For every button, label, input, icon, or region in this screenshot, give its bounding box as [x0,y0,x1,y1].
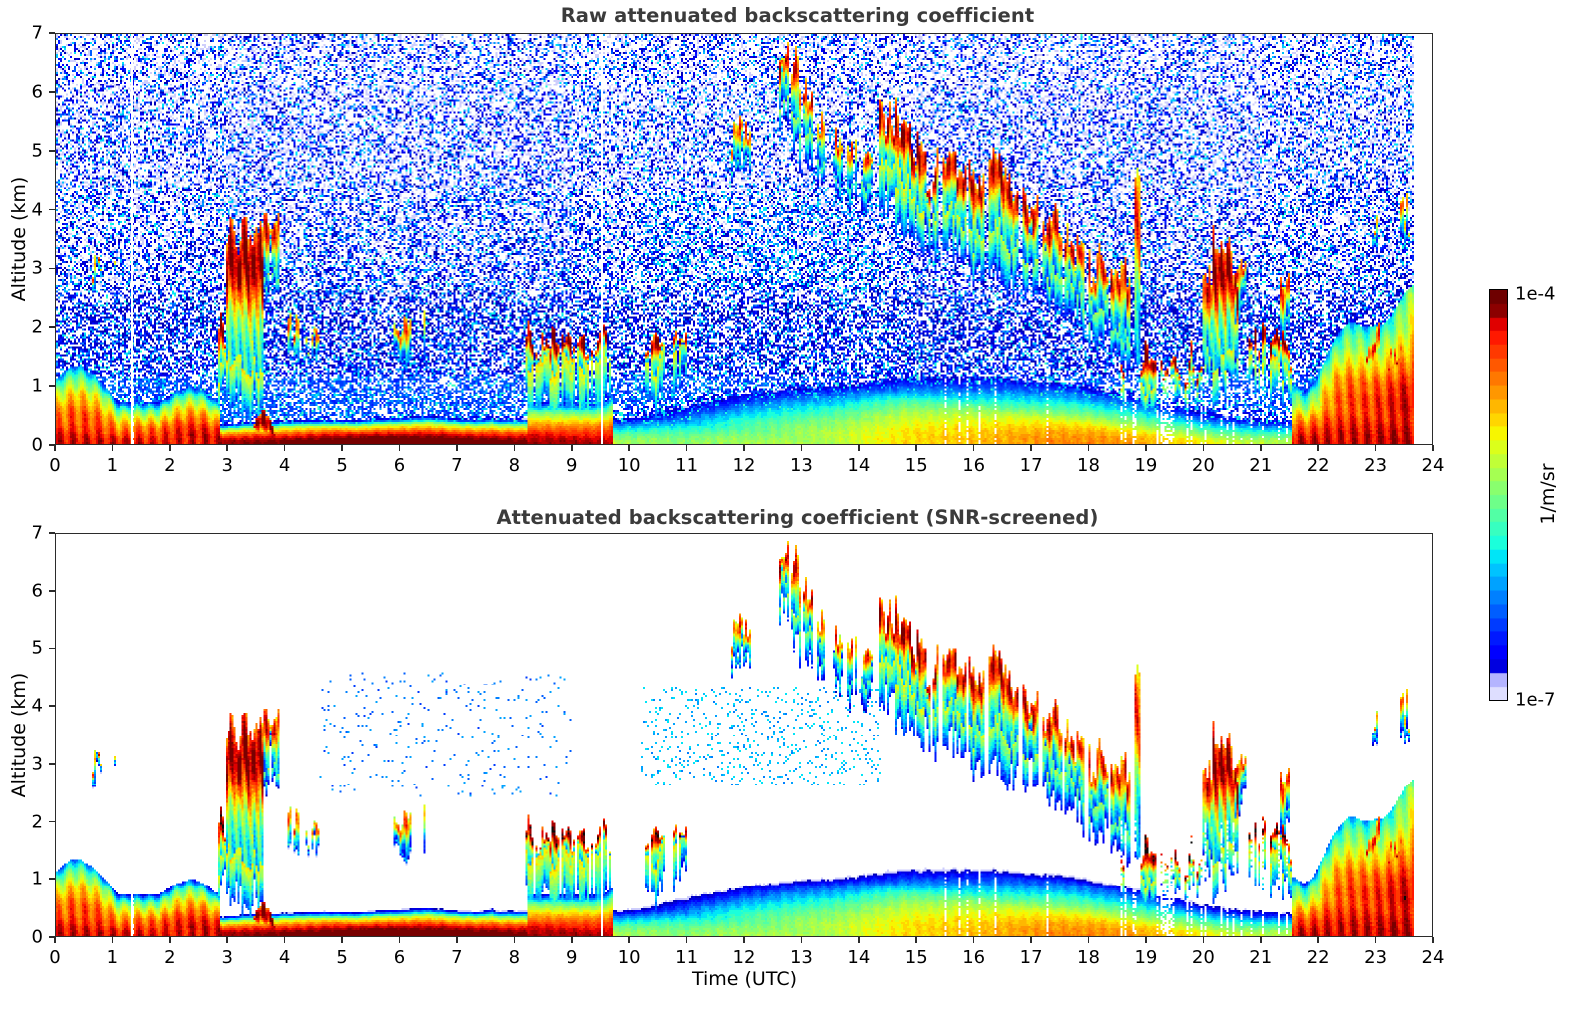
x-tick-label: 16 [962,455,985,476]
y-tick-mark [49,705,55,707]
x-tick-mark [743,445,745,451]
x-tick-mark [284,937,286,943]
panel-title-raw: Raw attenuated backscattering coefficien… [0,4,1595,27]
x-tick-mark [686,937,688,943]
x-tick-mark [628,937,630,943]
x-tick-label: 24 [1422,947,1445,968]
y-tick-mark [49,936,55,938]
x-tick-mark [1145,445,1147,451]
x-tick-mark [973,445,975,451]
y-tick-mark [49,821,55,823]
x-tick-mark [1088,445,1090,451]
x-tick-mark [226,445,228,451]
y-tick-mark [49,326,55,328]
x-tick-label: 6 [394,947,405,968]
x-tick-label: 5 [336,947,347,968]
x-tick-label: 2 [164,947,175,968]
x-tick-label: 19 [1134,455,1157,476]
x-tick-mark [341,937,343,943]
x-tick-label: 17 [1020,455,1043,476]
x-tick-label: 11 [675,455,698,476]
x-tick-label: 4 [279,947,290,968]
x-tick-label: 3 [222,947,233,968]
x-tick-mark [54,445,56,451]
colorbar-gradient [1490,290,1507,700]
y-axis-title-raw: Altitude (km) [8,33,30,445]
colorbar[interactable] [1489,289,1508,701]
x-tick-mark [801,445,803,451]
x-tick-mark [169,445,171,451]
x-tick-label: 20 [1192,455,1215,476]
x-tick-label: 12 [733,947,756,968]
x-tick-label: 22 [1307,947,1330,968]
x-tick-label: 7 [451,947,462,968]
x-tick-mark [915,445,917,451]
x-tick-label: 20 [1192,947,1215,968]
x-tick-label: 0 [49,455,60,476]
x-tick-label: 18 [1077,947,1100,968]
x-tick-label: 6 [394,455,405,476]
x-tick-mark [456,445,458,451]
x-tick-mark [341,445,343,451]
x-tick-mark [1375,445,1377,451]
x-tick-mark [284,445,286,451]
y-tick-mark [49,150,55,152]
x-tick-label: 11 [675,947,698,968]
x-tick-label: 9 [566,947,577,968]
x-tick-label: 19 [1134,947,1157,968]
y-tick-mark [49,209,55,211]
y-tick-mark [49,444,55,446]
x-tick-label: 16 [962,947,985,968]
x-tick-mark [1375,937,1377,943]
x-tick-label: 0 [49,947,60,968]
x-tick-mark [1030,445,1032,451]
x-tick-mark [1260,937,1262,943]
x-tick-mark [399,937,401,943]
y-tick-mark [49,878,55,880]
x-tick-label: 4 [279,455,290,476]
x-tick-label: 8 [509,947,520,968]
x-tick-label: 9 [566,455,577,476]
x-tick-label: 15 [905,947,928,968]
x-tick-mark [1432,937,1434,943]
x-tick-mark [1203,445,1205,451]
x-tick-mark [571,445,573,451]
x-tick-mark [54,937,56,943]
x-tick-label: 5 [336,455,347,476]
y-tick-mark [49,268,55,270]
x-tick-mark [973,937,975,943]
x-tick-label: 23 [1364,947,1387,968]
y-tick-mark [49,385,55,387]
x-tick-mark [112,445,114,451]
x-tick-label: 21 [1249,947,1272,968]
y-tick-mark [49,648,55,650]
y-tick-mark [49,32,55,34]
x-tick-label: 10 [618,455,641,476]
y-tick-mark [49,91,55,93]
x-tick-mark [456,937,458,943]
y-axis-title-screened: Altitude (km) [8,533,30,937]
x-tick-label: 17 [1020,947,1043,968]
x-tick-label: 24 [1422,455,1445,476]
x-tick-label: 15 [905,455,928,476]
panel-title-screened: Attenuated backscattering coefficient (S… [0,506,1595,529]
x-tick-mark [1317,445,1319,451]
plot-raw-backscatter [55,33,1433,445]
x-tick-mark [686,445,688,451]
x-tick-mark [858,445,860,451]
x-axis-title: Time (UTC) [0,968,1489,990]
x-tick-mark [1203,937,1205,943]
heatmap-screened-canvas [56,534,1432,936]
x-tick-label: 18 [1077,455,1100,476]
x-tick-label: 22 [1307,455,1330,476]
x-tick-label: 21 [1249,455,1272,476]
x-tick-label: 14 [847,455,870,476]
y-tick-mark [49,532,55,534]
y-tick-mark [49,763,55,765]
x-tick-mark [1088,937,1090,943]
x-tick-mark [1432,445,1434,451]
x-tick-label: 2 [164,455,175,476]
x-tick-mark [226,937,228,943]
x-tick-mark [112,937,114,943]
x-tick-label: 1 [107,455,118,476]
figure-canvas: Raw attenuated backscattering coefficien… [0,0,1595,1020]
heatmap-raw-canvas [56,34,1432,444]
plot-screened-backscatter [55,533,1433,937]
x-tick-mark [1030,937,1032,943]
x-tick-mark [1317,937,1319,943]
x-tick-mark [1145,937,1147,943]
x-tick-label: 13 [790,947,813,968]
y-tick-mark [49,590,55,592]
x-tick-label: 3 [222,455,233,476]
x-tick-label: 10 [618,947,641,968]
x-tick-label: 13 [790,455,813,476]
x-tick-mark [399,445,401,451]
x-tick-mark [1260,445,1262,451]
x-tick-label: 14 [847,947,870,968]
x-tick-mark [915,937,917,943]
colorbar-unit-label: 1/m/sr [1537,288,1559,700]
x-tick-mark [514,445,516,451]
x-tick-label: 8 [509,455,520,476]
x-tick-mark [514,937,516,943]
x-tick-mark [628,445,630,451]
x-tick-label: 1 [107,947,118,968]
x-tick-mark [571,937,573,943]
x-tick-label: 12 [733,455,756,476]
x-tick-mark [858,937,860,943]
x-tick-label: 23 [1364,455,1387,476]
x-tick-label: 7 [451,455,462,476]
x-tick-mark [169,937,171,943]
x-tick-mark [801,937,803,943]
x-tick-mark [743,937,745,943]
